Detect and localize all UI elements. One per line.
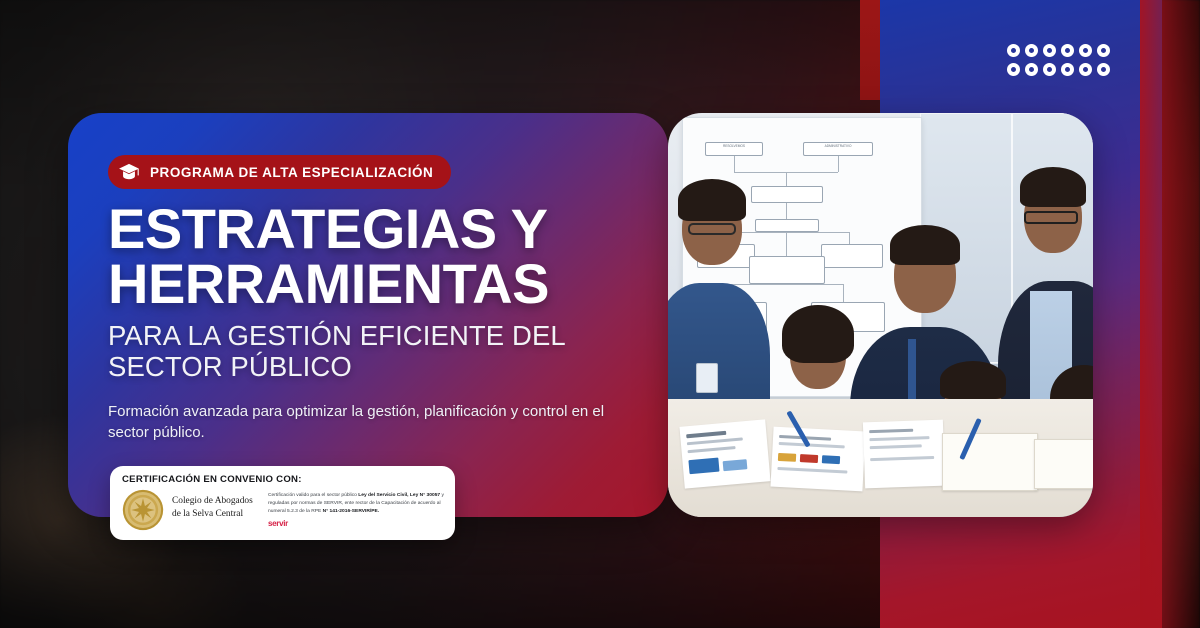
- person-hair: [890, 225, 960, 265]
- notebook: [942, 433, 1038, 491]
- glasses-icon: [688, 223, 736, 235]
- dot-icon: [1097, 63, 1110, 76]
- dot-icon: [1043, 63, 1056, 76]
- certification-card: CERTIFICACIÓN EN CONVENIO CON:: [110, 466, 455, 540]
- panel-edge-fade: [1140, 0, 1200, 628]
- dot-icon: [1025, 44, 1038, 57]
- dot-icon: [1007, 44, 1020, 57]
- dot-icon: [1061, 44, 1074, 57]
- flowchart-node: [749, 256, 825, 284]
- person-hair: [782, 305, 854, 363]
- flowchart-connector: [849, 232, 850, 244]
- id-badge: [696, 363, 718, 393]
- flowchart-node: RESOLVEMOS: [705, 142, 763, 156]
- document-sheet: [679, 419, 770, 488]
- page-subtitle: PARA LA GESTIÓN EFICIENTE DEL SECTOR PÚB…: [108, 321, 653, 383]
- person-hair: [940, 361, 1006, 399]
- dot-icon: [1079, 63, 1092, 76]
- legal-bold-part-2: N° 141-2016-SERVIR/PE.: [323, 509, 380, 514]
- flowchart-node: [821, 244, 883, 268]
- dot-icon: [1079, 44, 1092, 57]
- certification-body: Colegio de Abogados de la Selva Central …: [122, 489, 445, 531]
- flowchart-connector: [843, 284, 844, 302]
- institution-line-2: de la Selva Central: [172, 508, 260, 521]
- notebook: [1034, 439, 1093, 489]
- colegio-abogados-seal-icon: [122, 489, 164, 531]
- page-title: ESTRATEGIAS Y HERRAMIENTAS: [108, 201, 648, 312]
- document-sheet: [863, 420, 945, 489]
- dot-icon: [1007, 63, 1020, 76]
- flowchart-connector: [786, 203, 787, 219]
- person-hair: [1020, 167, 1086, 207]
- team-meeting-photo: RESOLVEMOS ADMINISTRATIVO: [668, 113, 1093, 517]
- institution-line-1: Colegio de Abogados: [172, 495, 260, 508]
- flowchart-connector: [731, 284, 843, 285]
- dot-icon: [1097, 44, 1110, 57]
- flowchart-node: [751, 186, 823, 203]
- dot-icon: [1025, 63, 1038, 76]
- graduation-cap-icon: [118, 163, 140, 181]
- title-line-1: ESTRATEGIAS Y: [108, 201, 648, 256]
- flowchart-connector: [838, 156, 839, 172]
- flowchart-node: [755, 219, 819, 232]
- legal-text-part-1: Certificación valido para el sector públ…: [268, 493, 358, 498]
- flowchart-connector: [725, 232, 849, 233]
- flowchart-connector: [734, 156, 735, 172]
- person-hair: [678, 179, 746, 221]
- dot-icon: [1061, 63, 1074, 76]
- institution-name: Colegio de Abogados de la Selva Central: [172, 489, 260, 531]
- program-badge: PROGRAMA DE ALTA ESPECIALIZACIÓN: [108, 155, 451, 189]
- program-badge-label: PROGRAMA DE ALTA ESPECIALIZACIÓN: [150, 165, 433, 180]
- flowchart-connector: [786, 172, 787, 186]
- dot-grid-decoration: [1007, 44, 1114, 80]
- meeting-table: [668, 399, 1093, 517]
- page-description: Formación avanzada para optimizar la ges…: [108, 401, 648, 444]
- title-line-2: HERRAMIENTAS: [108, 256, 648, 311]
- legal-text: Certificación valido para el sector públ…: [268, 489, 445, 531]
- glasses-icon: [1024, 211, 1078, 224]
- flowchart-node: ADMINISTRATIVO: [803, 142, 873, 156]
- document-sheet: [770, 427, 865, 492]
- main-content-card: PROGRAMA DE ALTA ESPECIALIZACIÓN ESTRATE…: [68, 113, 668, 517]
- flowchart-connector: [786, 232, 787, 256]
- dot-icon: [1043, 44, 1056, 57]
- certification-heading: CERTIFICACIÓN EN CONVENIO CON:: [122, 474, 445, 485]
- lanyard: [908, 339, 916, 403]
- servir-logo: servir: [268, 518, 445, 531]
- promotional-banner: RESOLVEMOS ADMINISTRATIVO: [0, 0, 1200, 628]
- legal-bold-part-1: Ley del Servicio Civil, Ley N° 30057: [358, 493, 440, 498]
